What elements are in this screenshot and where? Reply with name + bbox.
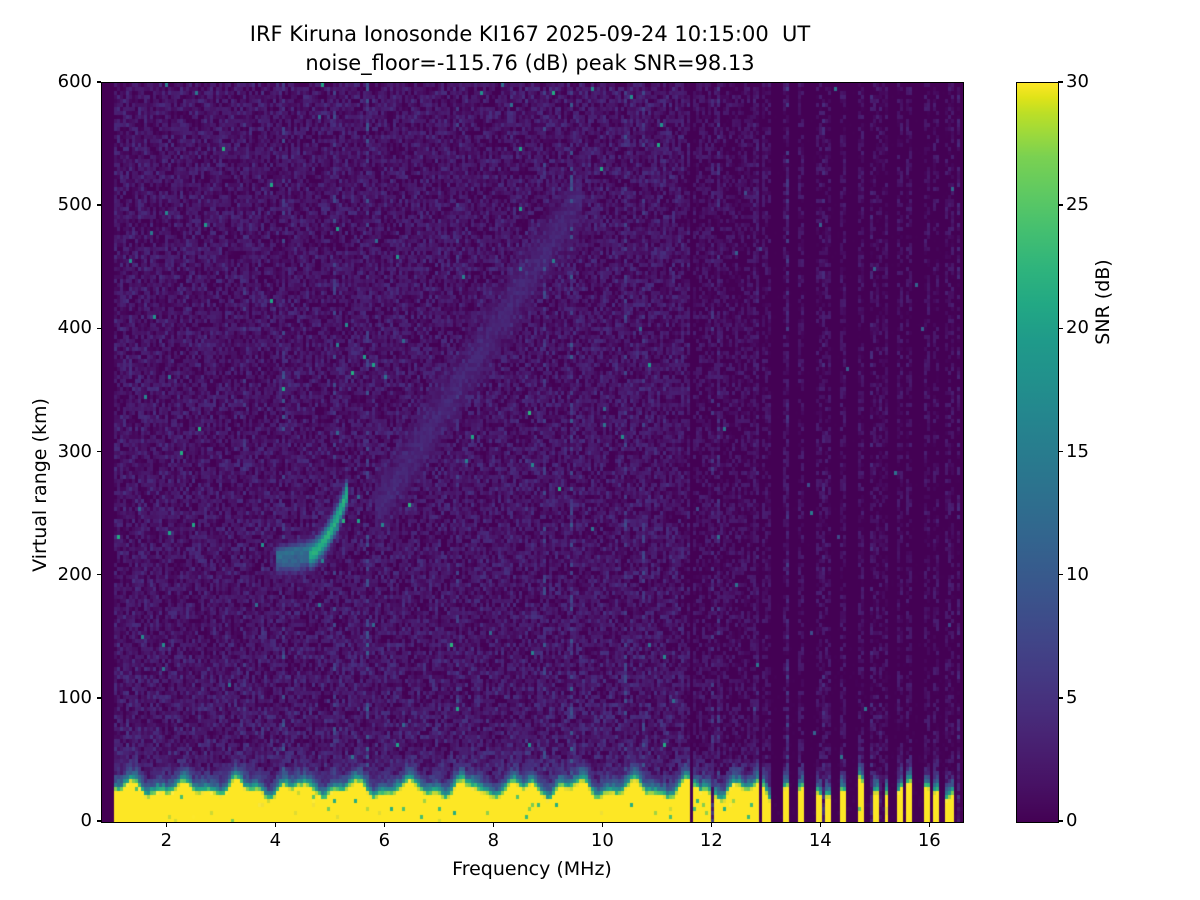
colorbar-tick-mark — [1058, 697, 1063, 698]
y-axis: Virtual range (km) 6005004003002001000 — [0, 82, 101, 822]
x-axis-tick-mark — [602, 822, 603, 827]
x-axis-label: Frequency (MHz) — [101, 858, 963, 880]
figure-title: IRF Kiruna Ionosonde KI167 2025-09-24 10… — [0, 20, 1060, 78]
colorbar-tick-label: 30 — [1066, 71, 1089, 93]
colorbar-tick-label: 20 — [1066, 317, 1089, 339]
colorbar-tick-mark — [1058, 81, 1063, 82]
colorbar-label: SNR (dB) — [1092, 152, 1114, 452]
x-axis-tick-mark — [711, 822, 712, 827]
colorbar-tick-label: 0 — [1066, 810, 1077, 832]
x-axis-tick-mark — [820, 822, 821, 827]
y-axis-tick-mark — [97, 574, 102, 575]
ionogram-heatmap — [102, 83, 963, 822]
y-axis-tick-mark — [97, 451, 102, 452]
y-axis-tick-label: 300 — [58, 441, 92, 463]
colorbar-tick-label: 15 — [1066, 441, 1089, 463]
x-axis-tick-label: 10 — [562, 830, 642, 851]
colorbar-tick-mark — [1058, 451, 1063, 452]
ionogram-plot-area — [101, 82, 964, 823]
y-axis-tick-mark — [97, 81, 102, 82]
x-axis-tick-label: 12 — [671, 830, 751, 851]
x-axis-tick-mark — [384, 822, 385, 827]
y-axis-tick-mark — [97, 328, 102, 329]
x-axis-tick-label: 6 — [344, 830, 424, 851]
y-axis-tick-label: 0 — [81, 810, 92, 832]
colorbar-tick-mark — [1058, 820, 1063, 821]
colorbar-tick-mark — [1058, 204, 1063, 205]
x-axis-tick-label: 2 — [126, 830, 206, 851]
x-axis-tick-label: 4 — [235, 830, 315, 851]
y-axis-tick-label: 200 — [58, 564, 92, 586]
colorbar-tick-mark — [1058, 328, 1063, 329]
colorbar-tick-mark — [1058, 574, 1063, 575]
figure-title-line1: IRF Kiruna Ionosonde KI167 2025-09-24 10… — [250, 22, 810, 46]
x-axis-tick-mark — [493, 822, 494, 827]
colorbar-tick-label: 10 — [1066, 564, 1089, 586]
y-axis-tick-label: 600 — [58, 71, 92, 93]
x-axis-tick-mark — [166, 822, 167, 827]
x-axis: Frequency (MHz) 246810121416 — [101, 822, 963, 892]
x-axis-tick-label: 16 — [889, 830, 969, 851]
y-axis-tick-mark — [97, 697, 102, 698]
x-axis-tick-label: 8 — [453, 830, 533, 851]
x-axis-tick-label: 14 — [780, 830, 860, 851]
colorbar-tick-label: 25 — [1066, 194, 1089, 216]
figure-title-line2: noise_floor=-115.76 (dB) peak SNR=98.13 — [305, 51, 754, 75]
x-axis-tick-mark — [275, 822, 276, 827]
colorbar-tick-label: 5 — [1066, 687, 1077, 709]
y-axis-tick-label: 500 — [58, 194, 92, 216]
y-axis-tick-label: 400 — [58, 317, 92, 339]
y-axis-tick-mark — [97, 204, 102, 205]
y-axis-tick-label: 100 — [58, 687, 92, 709]
x-axis-tick-mark — [929, 822, 930, 827]
y-axis-label: Virtual range (km) — [29, 185, 51, 785]
